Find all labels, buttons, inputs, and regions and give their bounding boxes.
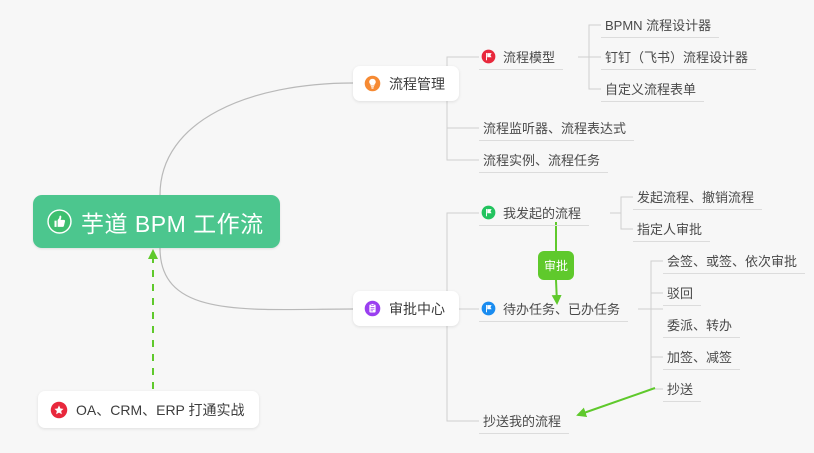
node-custom-form[interactable]: 自定义流程表单 [601,75,704,102]
node-process-listener-label: 流程监听器、流程表达式 [483,118,626,137]
node-start-cancel-process[interactable]: 发起流程、撤销流程 [633,183,762,210]
node-countersign-label: 会签、或签、依次审批 [667,251,797,270]
annotation-tag-approve-label: 审批 [544,257,568,274]
node-dingtalk-designer-label: 钉钉（飞书）流程设计器 [605,47,748,66]
node-bpmn-designer[interactable]: BPMN 流程设计器 [601,11,719,38]
node-cc-label: 抄送 [667,379,693,398]
link-todo-to-countersign [651,261,663,309]
note-card-integration-label: OA、CRM、ERP 打通实战 [76,400,245,420]
link-todo-to-reject [651,293,663,309]
node-add-remove-sign[interactable]: 加签、减签 [663,343,740,370]
node-process-listener[interactable]: 流程监听器、流程表达式 [479,114,634,141]
flag-green-icon [481,205,496,220]
link-root-to-process [160,83,353,195]
link-todo-to-addsign [651,309,663,357]
node-reject[interactable]: 驳回 [663,279,701,306]
thumbs-up-icon [47,209,72,234]
node-assignee-approval[interactable]: 指定人审批 [633,215,710,242]
branch-approval-center[interactable]: 审批中心 [353,291,459,326]
branch-process-management[interactable]: 流程管理 [353,66,459,101]
lightbulb-icon [364,75,381,92]
root-node-label: 芋道 BPM 工作流 [81,205,264,239]
clipboard-icon [364,300,381,317]
node-bpmn-designer-label: BPMN 流程设计器 [605,15,711,34]
node-todo-done-tasks[interactable]: 待办任务、已办任务 [479,295,628,322]
node-my-initiated[interactable]: 我发起的流程 [479,199,589,226]
node-delegate-transfer-label: 委派、转办 [667,315,732,334]
node-assignee-approval-label: 指定人审批 [637,219,702,238]
node-delegate-transfer[interactable]: 委派、转办 [663,311,740,338]
mindmap-canvas: 芋道 BPM 工作流 流程管理 审批中心 流程模型 [0,0,814,453]
note-card-integration[interactable]: OA、CRM、ERP 打通实战 [38,391,259,428]
link-mine-to-assignee [621,213,633,229]
node-my-initiated-label: 我发起的流程 [503,203,581,222]
node-dingtalk-designer[interactable]: 钉钉（飞书）流程设计器 [601,43,756,70]
star-icon [50,401,68,419]
node-process-model-label: 流程模型 [503,47,555,66]
branch-process-management-label: 流程管理 [389,74,445,94]
node-custom-form-label: 自定义流程表单 [605,79,696,98]
link-model-to-customform [589,57,601,89]
branch-approval-center-label: 审批中心 [389,299,445,319]
annotation-arrow-cc-to-ccmine [578,388,655,415]
node-countersign[interactable]: 会签、或签、依次审批 [663,247,805,274]
link-root-to-approval [160,248,353,310]
node-cc-to-me-label: 抄送我的流程 [483,411,561,430]
node-cc[interactable]: 抄送 [663,375,701,402]
node-todo-done-tasks-label: 待办任务、已办任务 [503,299,620,318]
link-model-to-bpmn [589,25,601,57]
node-process-instance-label: 流程实例、流程任务 [483,150,600,169]
node-process-model[interactable]: 流程模型 [479,43,563,70]
node-add-remove-sign-label: 加签、减签 [667,347,732,366]
flag-red-icon [481,49,496,64]
node-process-instance[interactable]: 流程实例、流程任务 [479,146,608,173]
root-node[interactable]: 芋道 BPM 工作流 [33,195,280,248]
link-todo-to-cc [651,309,663,389]
link-mine-to-start [621,197,633,213]
annotation-tag-approve[interactable]: 审批 [538,251,574,280]
node-cc-to-me[interactable]: 抄送我的流程 [479,407,569,434]
flag-blue-icon [481,301,496,316]
node-reject-label: 驳回 [667,283,693,302]
node-start-cancel-process-label: 发起流程、撤销流程 [637,187,754,206]
